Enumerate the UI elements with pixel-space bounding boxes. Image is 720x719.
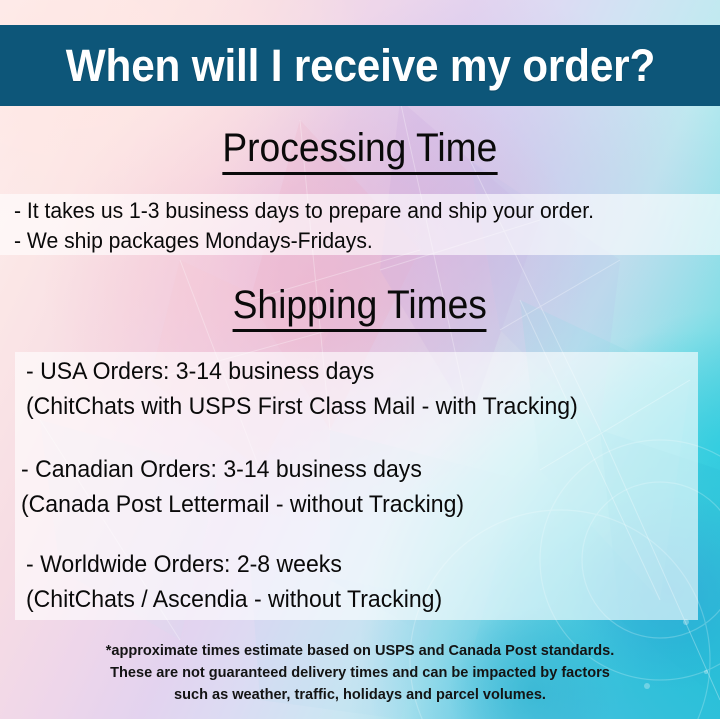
footnote-line-3: such as weather, traffic, holidays and p…: [11, 684, 709, 706]
section-heading-shipping-times-text: Shipping Times: [233, 283, 487, 332]
section-heading-shipping-times: Shipping Times: [0, 283, 720, 332]
shipping-entry-canada-detail: (Canada Post Lettermail - without Tracki…: [21, 487, 674, 522]
shipping-entry-worldwide-title: - Worldwide Orders: 2-8 weeks: [26, 547, 679, 582]
header-banner: When will I receive my order?: [0, 25, 720, 106]
page-title: When will I receive my order?: [65, 40, 654, 92]
section-heading-processing-time: Processing Time: [0, 126, 720, 175]
processing-time-lines: - It takes us 1-3 business days to prepa…: [14, 196, 714, 256]
shipping-entry-usa-title: - USA Orders: 3-14 business days: [26, 354, 679, 389]
shipping-entry-worldwide-detail: (ChitChats / Ascendia - without Tracking…: [26, 582, 679, 617]
section-heading-processing-time-text: Processing Time: [223, 126, 498, 175]
footnote-line-1: *approximate times estimate based on USP…: [11, 640, 709, 662]
processing-line-2: - We ship packages Mondays-Fridays.: [14, 226, 686, 256]
footnote-disclaimer: *approximate times estimate based on USP…: [0, 640, 720, 706]
shipping-entry-usa-detail: (ChitChats with USPS First Class Mail - …: [26, 389, 679, 424]
shipping-info-poster: When will I receive my order? Processing…: [0, 0, 720, 719]
processing-line-1: - It takes us 1-3 business days to prepa…: [14, 196, 686, 226]
shipping-entry-canada-title: - Canadian Orders: 3-14 business days: [21, 452, 674, 487]
footnote-line-2: These are not guaranteed delivery times …: [11, 662, 709, 684]
shipping-entry-usa: - USA Orders: 3-14 business days (ChitCh…: [26, 354, 706, 424]
shipping-entry-canada: - Canadian Orders: 3-14 business days (C…: [21, 452, 701, 522]
shipping-entry-worldwide: - Worldwide Orders: 2-8 weeks (ChitChats…: [26, 547, 706, 617]
